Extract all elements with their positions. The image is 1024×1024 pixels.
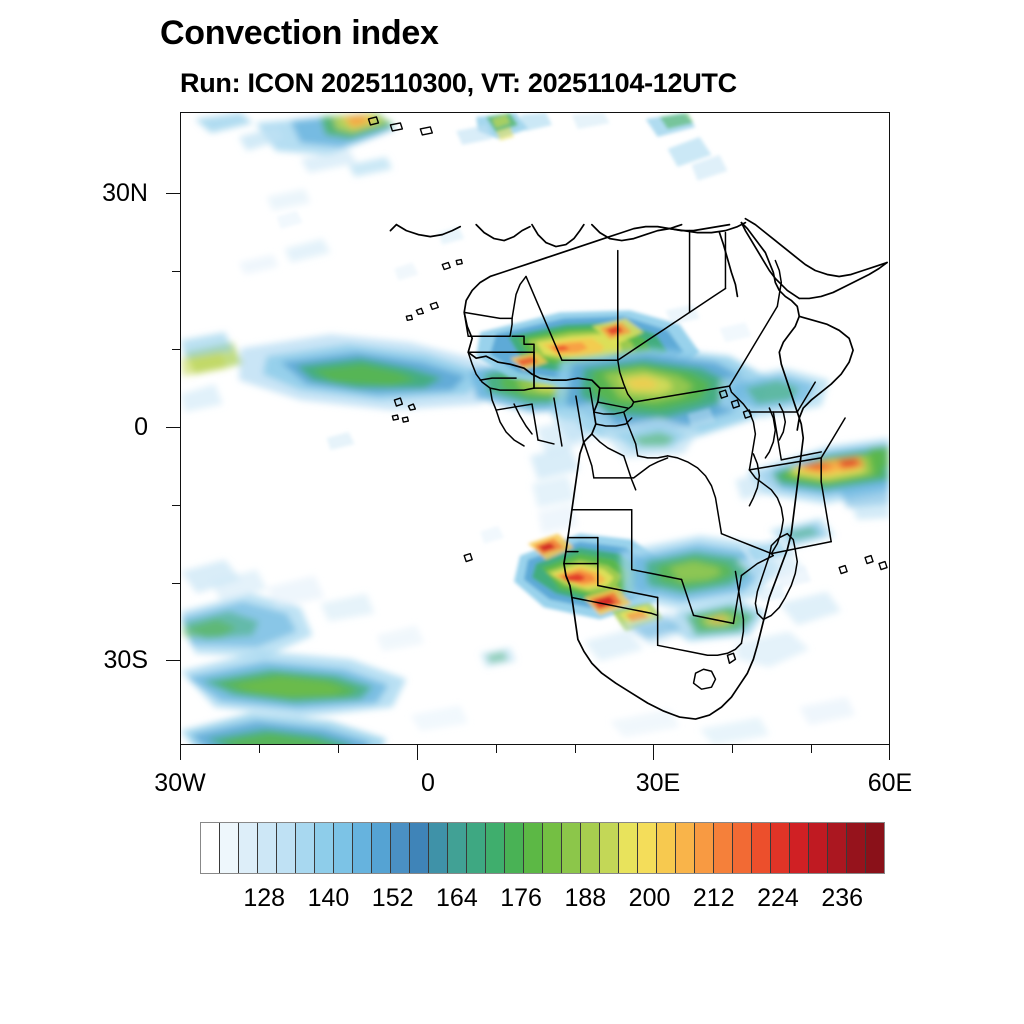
- y-tick-30N: [166, 193, 180, 194]
- y-tick-0: [166, 427, 180, 428]
- colorbar-cell-35: [866, 823, 884, 873]
- y-axis-label-0: 0: [48, 415, 148, 440]
- colorbar-cell-4: [277, 823, 296, 873]
- colorbar-cell-11: [410, 823, 429, 873]
- x-axis-label-30W: 30W: [130, 771, 230, 796]
- colorbar-cell-34: [847, 823, 866, 873]
- colorbar-cell-31: [790, 823, 809, 873]
- x-tick-60E: [889, 745, 890, 760]
- colorbar-tick-236: 236: [802, 886, 882, 911]
- colorbar-cell-1: [220, 823, 239, 873]
- colorbar-cell-6: [315, 823, 334, 873]
- colorbar-cell-0: [201, 823, 220, 873]
- colorbar-cell-19: [562, 823, 581, 873]
- y-tick-20S: [172, 583, 180, 584]
- colorbar-cell-33: [828, 823, 847, 873]
- colorbar-cell-14: [467, 823, 486, 873]
- colorbar-cell-20: [581, 823, 600, 873]
- colorbar-cell-7: [334, 823, 353, 873]
- colorbar-cell-10: [391, 823, 410, 873]
- y-axis-label-30N: 30N: [48, 181, 148, 206]
- y-tick-30S: [166, 660, 180, 661]
- colorbar-cell-23: [638, 823, 657, 873]
- x-tick-20W: [259, 745, 260, 753]
- x-tick-20E: [575, 745, 576, 753]
- colorbar-cell-5: [296, 823, 315, 873]
- page-title: Convection index: [160, 16, 439, 50]
- x-axis-label-30E: 30E: [608, 771, 708, 796]
- x-tick-10E: [496, 745, 497, 753]
- x-tick-50E: [811, 745, 812, 753]
- colorbar-cell-16: [505, 823, 524, 873]
- colorbar-cell-8: [353, 823, 372, 873]
- colorbar-cell-27: [714, 823, 733, 873]
- colorbar-cell-28: [733, 823, 752, 873]
- y-tick-20N: [172, 271, 180, 272]
- x-tick-30W: [180, 745, 181, 760]
- x-tick-10W: [338, 745, 339, 753]
- colorbar-cell-13: [448, 823, 467, 873]
- colorbar-cell-12: [429, 823, 448, 873]
- colorbar-cell-2: [239, 823, 258, 873]
- y-tick-10S: [172, 505, 180, 506]
- x-axis-label-0: 0: [378, 771, 478, 796]
- colorbar-cell-24: [657, 823, 676, 873]
- x-tick-40E: [732, 745, 733, 753]
- colorbar-cell-21: [600, 823, 619, 873]
- colorbar-cell-22: [619, 823, 638, 873]
- colorbar: [200, 822, 885, 874]
- colorbar-cell-32: [809, 823, 828, 873]
- y-tick-10N: [172, 349, 180, 350]
- x-tick-0: [417, 745, 418, 760]
- colorbar-cell-18: [543, 823, 562, 873]
- colorbar-cell-3: [258, 823, 277, 873]
- x-axis-label-60E: 60E: [840, 771, 940, 796]
- colorbar-cell-29: [752, 823, 771, 873]
- run-valid-time-subtitle: Run: ICON 2025110300, VT: 20251104-12UTC: [180, 70, 737, 97]
- colorbar-cell-9: [372, 823, 391, 873]
- y-axis-label-30S: 30S: [48, 648, 148, 673]
- convection-field-layer: [181, 113, 889, 744]
- map-canvas: [181, 113, 889, 744]
- map-plot-area: [180, 112, 890, 745]
- x-tick-30E: [653, 745, 654, 760]
- colorbar-cell-26: [695, 823, 714, 873]
- colorbar-cell-25: [676, 823, 695, 873]
- colorbar-cell-15: [486, 823, 505, 873]
- colorbar-cell-17: [524, 823, 543, 873]
- figure-canvas: Convection index Run: ICON 2025110300, V…: [0, 0, 1024, 1024]
- colorbar-cell-30: [771, 823, 790, 873]
